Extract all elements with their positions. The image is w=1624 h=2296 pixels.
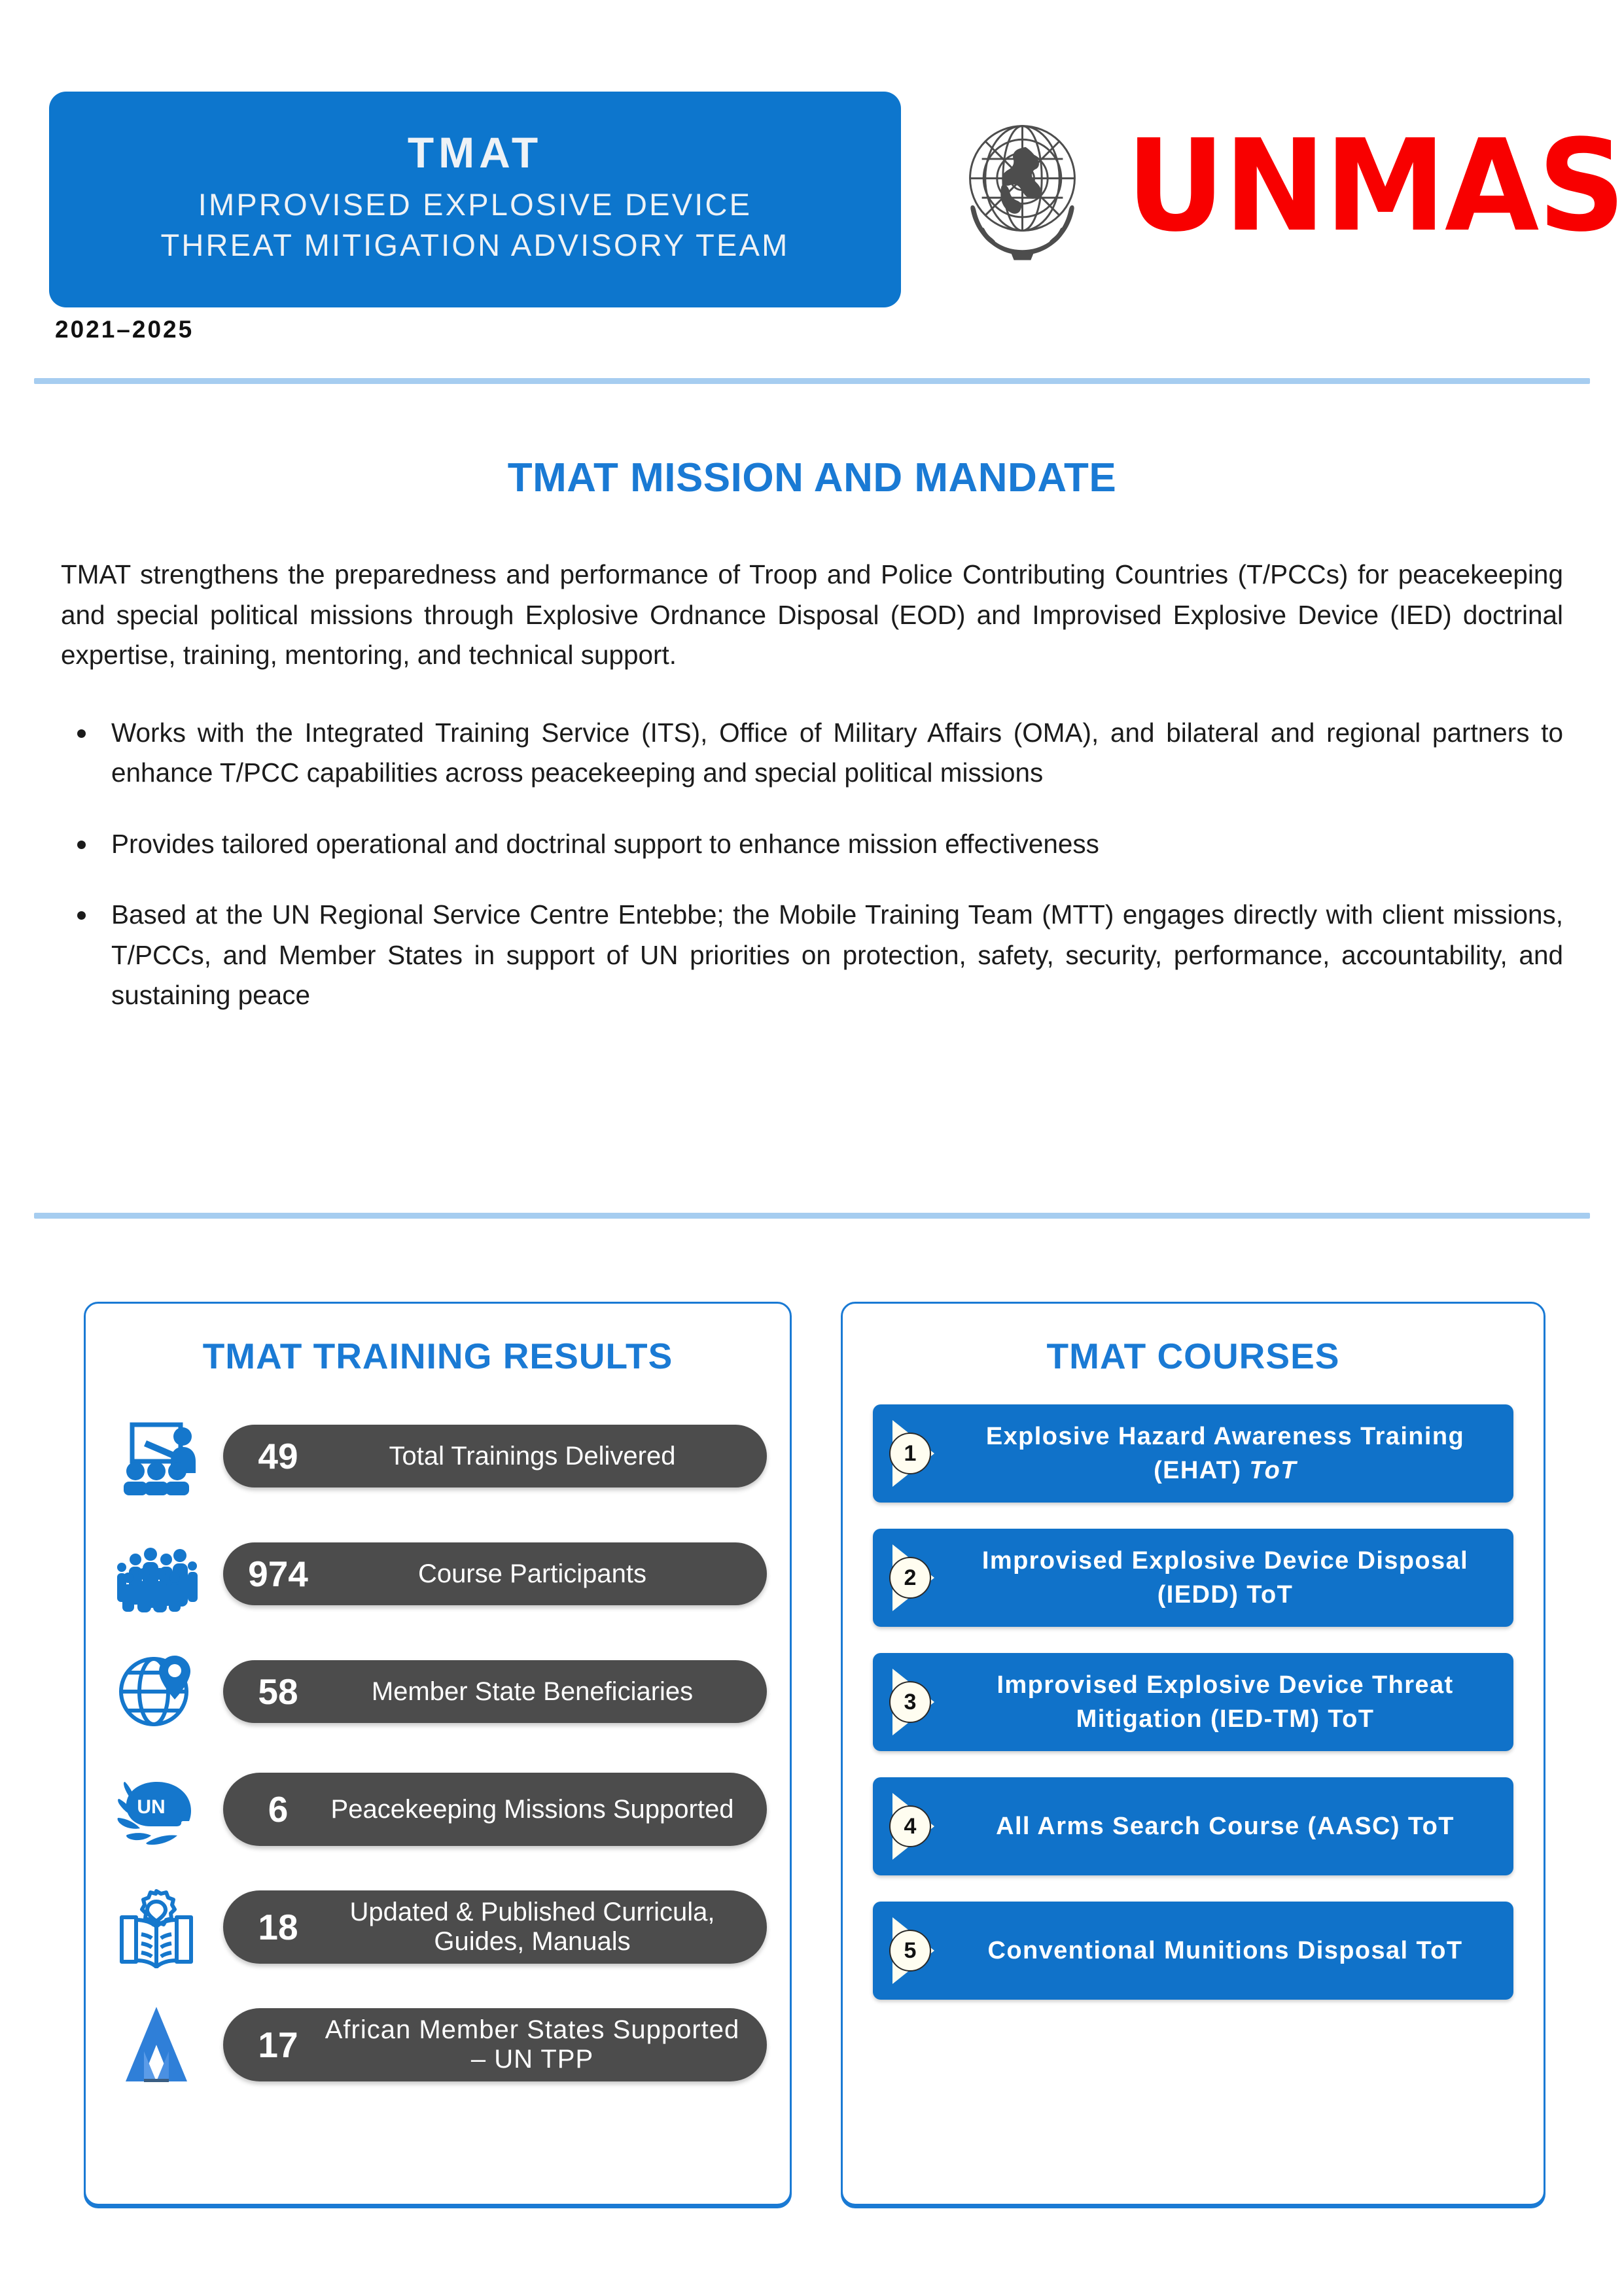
- list-item: Provides tailored operational and doctri…: [98, 823, 1563, 865]
- crowd-participants-icon: [104, 1528, 209, 1620]
- stat-row: 58 Member State Beneficiaries: [86, 1643, 790, 1741]
- mission-bullet-list: Works with the Integrated Training Servi…: [98, 712, 1563, 1016]
- stat-row: 18 Updated & Published Curricula, Guides…: [86, 1878, 790, 1976]
- courses-heading: TMAT COURSES: [843, 1335, 1544, 1377]
- date-range: 2021–2025: [55, 316, 194, 343]
- course-item-4[interactable]: 4 All Arms Search Course (AASC) ToT: [873, 1777, 1513, 1875]
- training-results-panel: TMAT TRAINING RESULTS: [84, 1302, 792, 2206]
- course-item-1[interactable]: 1 Explosive Hazard Awareness Training (E…: [873, 1404, 1513, 1503]
- stat-label: Course Participants: [320, 1559, 745, 1589]
- course-label-text: Improvised Explosive Device Threat Mitig…: [997, 1671, 1453, 1733]
- step-arrow-badge-icon: 3: [887, 1653, 959, 1751]
- course-label-italic: ToT: [1249, 1457, 1296, 1484]
- stat-number: 974: [248, 1553, 308, 1595]
- course-item-3[interactable]: 3 Improvised Explosive Device Threat Mit…: [873, 1653, 1513, 1751]
- svg-text:UN: UN: [137, 1796, 165, 1818]
- step-arrow-badge-icon: 1: [887, 1404, 959, 1503]
- course-label: Improvised Explosive Device Threat Mitig…: [959, 1659, 1513, 1746]
- stat-label: Updated & Published Curricula, Guides, M…: [320, 1898, 745, 1957]
- stat-label: Total Trainings Delivered: [320, 1442, 745, 1471]
- infographic-page: TMAT IMPROVISED EXPLOSIVE DEVICE THREAT …: [0, 0, 1624, 2296]
- course-label: All Arms Search Course (AASC) ToT: [959, 1800, 1513, 1852]
- course-item-5[interactable]: 5 Conventional Munitions Disposal ToT: [873, 1902, 1513, 2000]
- page-subtitle-line2: THREAT MITIGATION ADVISORY TEAM: [160, 225, 789, 266]
- stat-row: 49 Total Trainings Delivered: [86, 1407, 790, 1505]
- course-label-text: Improvised Explosive Device Disposal (IE…: [982, 1547, 1468, 1609]
- stat-row: UN 6 Peacekeeping Missions Supported: [86, 1760, 790, 1858]
- stat-pill: 17 African Member States Supported – UN …: [223, 2008, 767, 2081]
- stat-row: 974 Course Participants: [86, 1525, 790, 1623]
- stat-pill: 18 Updated & Published Curricula, Guides…: [223, 1890, 767, 1964]
- course-label: Explosive Hazard Awareness Training (EHA…: [959, 1410, 1513, 1497]
- course-number: 5: [890, 1902, 930, 2000]
- classroom-training-icon: [104, 1410, 209, 1502]
- course-label-text: All Arms Search Course (AASC) ToT: [996, 1813, 1455, 1840]
- list-item: Works with the Integrated Training Servi…: [98, 712, 1563, 793]
- un-emblem-icon: [936, 107, 1109, 267]
- course-item-2[interactable]: 2 Improvised Explosive Device Disposal (…: [873, 1529, 1513, 1627]
- step-arrow-badge-icon: 4: [887, 1777, 959, 1875]
- training-results-list: 49 Total Trainings Delivered: [86, 1407, 790, 2094]
- divider-bottom: [34, 1213, 1590, 1219]
- page-header: TMAT IMPROVISED EXPLOSIVE DEVICE THREAT …: [0, 0, 1624, 379]
- course-label-text: Explosive Hazard Awareness Training (EHA…: [986, 1423, 1464, 1484]
- courses-list: 1 Explosive Hazard Awareness Training (E…: [843, 1404, 1544, 2000]
- mission-section: TMAT MISSION AND MANDATE TMAT strengthen…: [0, 392, 1624, 1045]
- course-number: 4: [890, 1777, 930, 1875]
- stat-number: 6: [248, 1788, 308, 1830]
- logo-block: UNMAS: [936, 105, 1577, 268]
- title-banner: TMAT IMPROVISED EXPLOSIVE DEVICE THREAT …: [49, 92, 901, 307]
- course-number: 3: [890, 1653, 930, 1751]
- book-gear-icon: [104, 1881, 209, 1973]
- stat-number: 58: [248, 1671, 308, 1713]
- course-label: Improvised Explosive Device Disposal (IE…: [959, 1535, 1513, 1622]
- stat-label: African Member States Supported – UN TPP: [320, 2015, 745, 2074]
- stat-row: 17 African Member States Supported – UN …: [86, 1996, 790, 2094]
- stat-label: Peacekeeping Missions Supported: [320, 1795, 745, 1824]
- course-label-text: Conventional Munitions Disposal ToT: [988, 1937, 1463, 1964]
- training-results-heading: TMAT TRAINING RESULTS: [86, 1335, 790, 1377]
- stat-number: 17: [248, 2024, 308, 2066]
- stat-pill: 974 Course Participants: [223, 1542, 767, 1605]
- list-item: Based at the UN Regional Service Centre …: [98, 894, 1563, 1016]
- divider-top: [34, 378, 1590, 384]
- page-title: TMAT: [408, 126, 542, 180]
- step-arrow-badge-icon: 2: [887, 1529, 959, 1627]
- stat-pill: 6 Peacekeeping Missions Supported: [223, 1773, 767, 1846]
- course-label: Conventional Munitions Disposal ToT: [959, 1924, 1513, 1977]
- stat-pill: 49 Total Trainings Delivered: [223, 1425, 767, 1487]
- mission-heading: TMAT MISSION AND MANDATE: [0, 455, 1624, 501]
- un-helmet-icon: UN: [104, 1764, 209, 1855]
- courses-panel: TMAT COURSES 1 Explosive Hazard Awarenes…: [841, 1302, 1545, 2206]
- globe-pin-icon: [104, 1646, 209, 1737]
- stat-number: 49: [248, 1435, 308, 1477]
- mission-intro-text: TMAT strengthens the preparedness and pe…: [61, 555, 1563, 676]
- step-arrow-badge-icon: 5: [887, 1902, 959, 2000]
- course-number: 2: [890, 1529, 930, 1627]
- course-number: 1: [890, 1404, 930, 1503]
- un-tpp-triangle-icon: [104, 1999, 209, 2091]
- stat-number: 18: [248, 1906, 308, 1948]
- page-subtitle-line1: IMPROVISED EXPLOSIVE DEVICE: [198, 184, 752, 225]
- stat-label: Member State Beneficiaries: [320, 1677, 745, 1707]
- unmas-logo-text: UNMAS: [1126, 128, 1624, 245]
- stat-pill: 58 Member State Beneficiaries: [223, 1660, 767, 1723]
